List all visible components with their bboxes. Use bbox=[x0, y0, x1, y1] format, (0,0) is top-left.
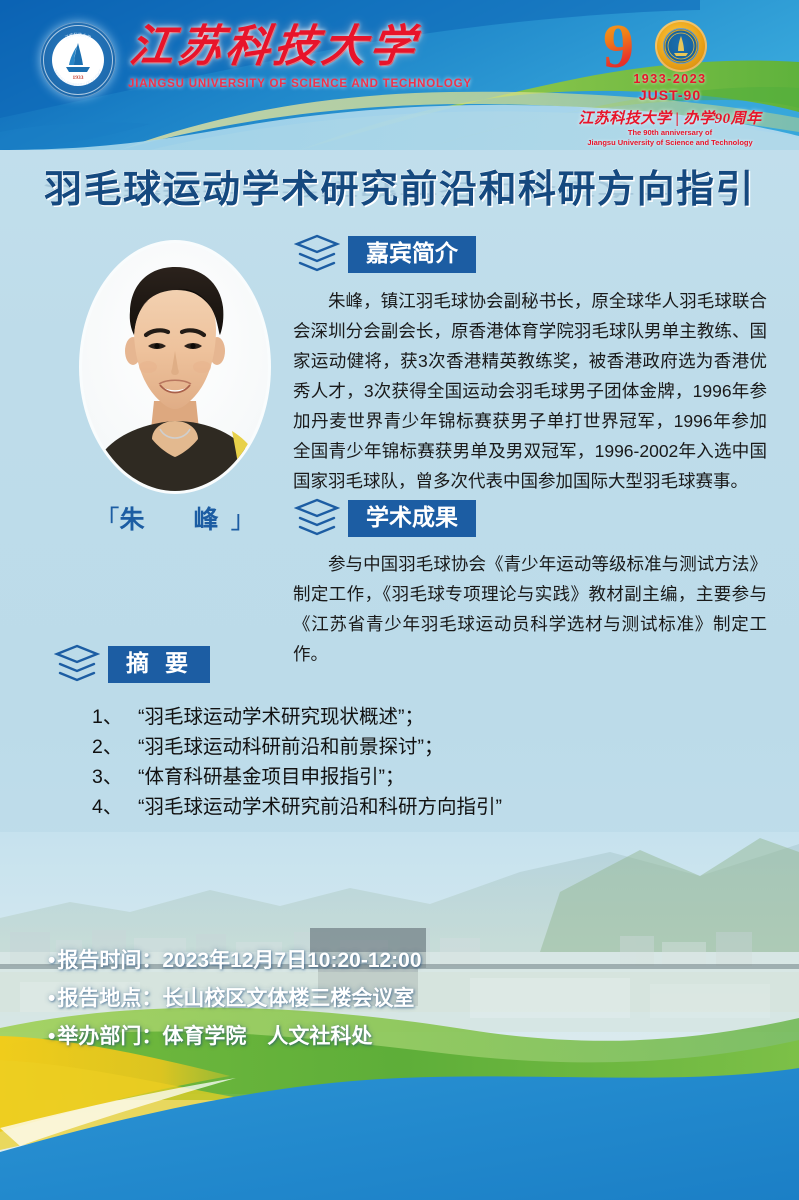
medallion-sail-icon bbox=[663, 28, 699, 64]
anniversary-zero-medallion bbox=[655, 20, 707, 72]
anniversary-90-glyph: 9 bbox=[575, 14, 765, 78]
university-name-en: JIANGSU UNIVERSITY OF SCIENCE AND TECHNO… bbox=[128, 78, 472, 90]
event-detail-row: •举办部门：体育学院 人文社科处 bbox=[48, 1018, 748, 1056]
university-seal-icon: 1933 江苏科技大学 JIANGSU UNIVERSITY OF SCIENC… bbox=[40, 22, 116, 98]
anniversary-zh-text: 江苏科技大学 | 办学90周年 bbox=[575, 107, 765, 128]
section-badge-abstract: 摘要 bbox=[54, 644, 210, 684]
anniversary-code: JUST-90 bbox=[575, 87, 765, 103]
list-item-number: 4、 bbox=[92, 792, 138, 822]
speaker-portrait-illustration bbox=[82, 243, 268, 491]
section-title-achievements: 学术成果 bbox=[348, 500, 476, 537]
list-item-text: “羽毛球运动科研前沿和前景探讨”； bbox=[138, 736, 444, 758]
speaker-name: 「朱 峰」 bbox=[82, 500, 268, 536]
achievements-text: 参与中国羽毛球协会《青少年运动等级标准与测试方法》制定工作，《羽毛球专项理论与实… bbox=[293, 549, 767, 669]
university-name-zh: 江苏科技大学 bbox=[126, 22, 421, 72]
bracket-left: 「 bbox=[94, 507, 119, 534]
poster-root: 1933 江苏科技大学 JIANGSU UNIVERSITY OF SCIENC… bbox=[0, 0, 799, 1200]
list-item-number: 1、 bbox=[92, 702, 138, 732]
anniversary-medallion-inner bbox=[663, 28, 699, 64]
bullet-icon: • bbox=[48, 949, 55, 972]
event-time-label: 报告时间： bbox=[57, 949, 162, 972]
event-details: •报告时间：2023年12月7日10:20-12:00 •报告地点：长山校区文体… bbox=[48, 942, 748, 1056]
event-organizer-label: 举办部门： bbox=[57, 1025, 162, 1048]
list-item-number: 2、 bbox=[92, 732, 138, 762]
bracket-right: 」 bbox=[231, 507, 256, 534]
speaker-photo bbox=[82, 243, 268, 491]
list-item-text: “体育科研基金项目申报指引”； bbox=[138, 766, 405, 788]
layers-stack-icon bbox=[54, 644, 100, 684]
anniversary-en-line1: The 90th anniversary of bbox=[575, 128, 765, 138]
section-title-guest: 嘉宾简介 bbox=[348, 236, 476, 273]
speaker-bio-text: 朱峰，镇江羽毛球协会副秘书长，原全球华人羽毛球联合会深圳分会副会长，原香港体育学… bbox=[293, 286, 767, 496]
event-detail-row: •报告时间：2023年12月7日10:20-12:00 bbox=[48, 942, 748, 980]
anniversary-numeral: 9 bbox=[603, 16, 634, 78]
svg-text:江苏科技大学: 江苏科技大学 bbox=[64, 31, 92, 41]
list-item: 3、“体育科研基金项目申报指引”； bbox=[92, 762, 732, 792]
list-item-text: “羽毛球运动学术研究前沿和科研方向指引” bbox=[138, 796, 502, 818]
bullet-icon: • bbox=[48, 1025, 55, 1048]
list-item: 2、“羽毛球运动科研前沿和前景探讨”； bbox=[92, 732, 732, 762]
section-badge-achievements: 学术成果 bbox=[294, 498, 476, 538]
event-organizer-value: 体育学院 人文社科处 bbox=[162, 1025, 372, 1048]
event-location-value: 长山校区文体楼三楼会议室 bbox=[162, 987, 414, 1010]
list-item: 1、“羽毛球运动学术研究现状概述”； bbox=[92, 702, 732, 732]
poster-header: 1933 江苏科技大学 JIANGSU UNIVERSITY OF SCIENC… bbox=[0, 0, 799, 150]
event-time-value: 2023年12月7日10:20-12:00 bbox=[162, 949, 421, 972]
abstract-list: 1、“羽毛球运动学术研究现状概述”； 2、“羽毛球运动科研前沿和前景探讨”； 3… bbox=[92, 702, 732, 822]
list-item-number: 3、 bbox=[92, 762, 138, 792]
list-item: 4、“羽毛球运动学术研究前沿和科研方向指引” bbox=[92, 792, 732, 822]
list-item-text: “羽毛球运动学术研究现状概述”； bbox=[138, 706, 424, 728]
page-title: 羽毛球运动学术研究前沿和科研方向指引 bbox=[0, 158, 799, 213]
anniversary-en-line2: Jiangsu University of Science and Techno… bbox=[575, 138, 765, 148]
event-location-label: 报告地点： bbox=[57, 987, 162, 1010]
svg-text:JIANGSU UNIVERSITY OF SCIENCE: JIANGSU UNIVERSITY OF SCIENCE bbox=[53, 68, 103, 87]
layers-stack-icon bbox=[294, 234, 340, 274]
bullet-icon: • bbox=[48, 987, 55, 1010]
event-detail-row: •报告地点：长山校区文体楼三楼会议室 bbox=[48, 980, 748, 1018]
section-badge-guest: 嘉宾简介 bbox=[294, 234, 476, 274]
section-title-abstract: 摘要 bbox=[108, 646, 210, 683]
layers-stack-icon bbox=[294, 498, 340, 538]
seal-ring-text: 江苏科技大学 JIANGSU UNIVERSITY OF SCIENCE bbox=[40, 22, 116, 98]
anniversary-emblem: 9 1933-2023 JUST-90 江苏科技大学 | 办学90周年 The … bbox=[575, 14, 765, 142]
speaker-name-text: 朱 峰 bbox=[119, 507, 230, 534]
